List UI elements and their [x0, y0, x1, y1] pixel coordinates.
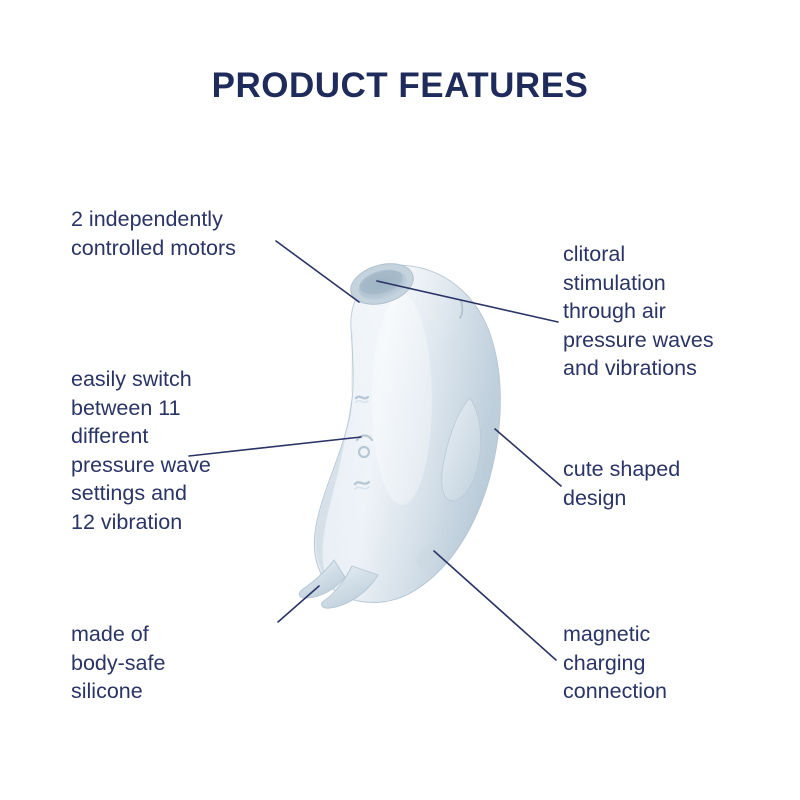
feature-label-switch: easily switch between 11 different press…	[71, 365, 281, 537]
feature-label-clitoral-stimulation: clitoral stimulation through air pressur…	[563, 240, 800, 383]
feature-label-silicone: made of body-safe silicone	[71, 620, 291, 706]
feature-label-magnetic-charging: magnetic charging connection	[563, 620, 793, 706]
feature-label-cute-shaped-design: cute shaped design	[563, 455, 793, 512]
product-features-infographic: PRODUCT FEATURES	[0, 0, 800, 800]
body-highlight	[372, 295, 432, 505]
feature-label-motors: 2 independently controlled motors	[71, 205, 321, 262]
